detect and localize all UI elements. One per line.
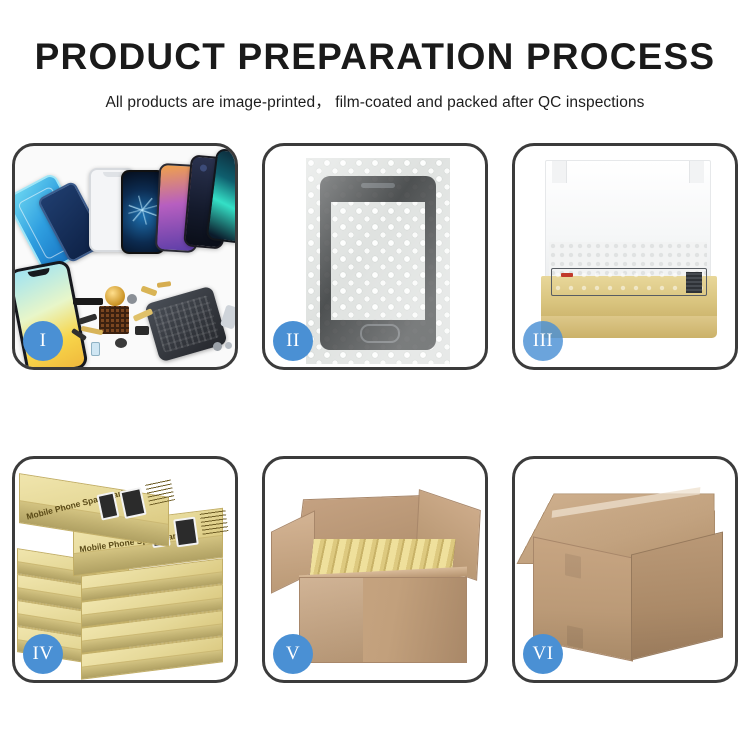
wrapped-phone-screen xyxy=(320,176,436,350)
step-badge-6: VI xyxy=(523,634,563,674)
carton-flap-tab xyxy=(567,625,583,648)
process-step-panel-6: VI xyxy=(512,456,738,683)
box-front-wall xyxy=(541,316,717,338)
spare-part-item xyxy=(91,342,100,356)
process-step-panel-5: V xyxy=(262,456,488,683)
spare-part-item xyxy=(115,338,127,348)
process-step-panel-2: II xyxy=(262,143,488,370)
chip-grid-part xyxy=(99,306,129,334)
process-step-panel-3: III xyxy=(512,143,738,370)
copper-coil-part xyxy=(105,286,125,306)
process-step-grid: I II III xyxy=(12,143,738,683)
header: PRODUCT PREPARATION PROCESS All products… xyxy=(0,0,750,112)
spare-part-item xyxy=(135,326,149,335)
flex-cable-strip xyxy=(73,298,103,305)
process-step-panel-4: Mobile Phone Spare Parts Mobile Phone Sp… xyxy=(12,456,238,683)
step-badge-3: III xyxy=(523,321,563,361)
process-step-panel-1: I xyxy=(12,143,238,370)
sealed-carton-right-face xyxy=(631,532,723,661)
box-label-thumbnail xyxy=(173,517,199,548)
spare-part-item xyxy=(79,313,98,324)
page-subtitle: All products are image-printed， film-coa… xyxy=(0,90,750,112)
spare-part-item xyxy=(140,285,157,296)
step-badge-4: IV xyxy=(23,634,63,674)
spare-part-item xyxy=(225,342,232,349)
box-label-spec-lines xyxy=(200,509,229,534)
packed-screen-in-box xyxy=(551,268,707,296)
bubble-wrap-sheet xyxy=(306,158,450,364)
spare-part-item xyxy=(213,342,222,351)
spare-part-item xyxy=(127,294,137,304)
step-badge-2: II xyxy=(273,321,313,361)
product-preparation-infographic: PRODUCT PREPARATION PROCESS All products… xyxy=(0,0,750,750)
spare-part-item xyxy=(157,281,172,288)
step-badge-5: V xyxy=(273,634,313,674)
page-title: PRODUCT PREPARATION PROCESS xyxy=(0,36,750,78)
spare-part-item xyxy=(220,304,235,329)
step-badge-1: I xyxy=(23,321,63,361)
carton-body xyxy=(299,577,467,663)
carton-flap-tab xyxy=(565,553,581,578)
back-housing-board xyxy=(144,286,228,363)
box-label-spec-lines xyxy=(145,479,175,506)
